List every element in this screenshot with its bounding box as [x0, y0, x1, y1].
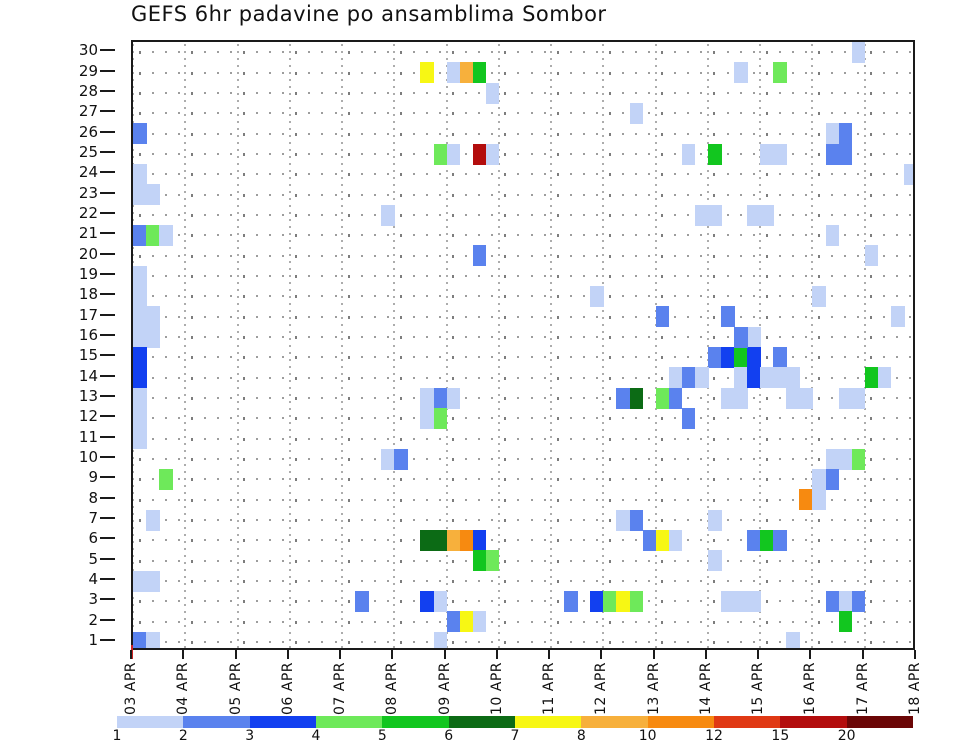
precip-cell	[473, 62, 487, 83]
y-axis-label: 21	[79, 224, 98, 242]
precip-cell	[146, 510, 160, 531]
precip-cell	[420, 62, 434, 83]
chart-title: GEFS 6hr padavine po ansamblima Sombor	[131, 2, 607, 26]
y-axis-label: 24	[79, 163, 98, 181]
precip-cell	[133, 123, 147, 144]
x-axis-label: 16 APR	[802, 662, 818, 715]
colorbar-segment	[382, 716, 448, 728]
colorbar-segment	[581, 716, 647, 728]
precip-cell	[616, 510, 630, 531]
y-axis-tick	[100, 253, 115, 255]
x-axis-tick	[496, 650, 498, 659]
y-axis-label: 23	[79, 184, 98, 202]
precip-cell	[133, 347, 147, 368]
colorbar-segment	[847, 716, 913, 728]
precip-cell	[721, 347, 735, 368]
y-axis-tick	[100, 273, 115, 275]
colorbar-segment	[515, 716, 581, 728]
y-axis-tick	[100, 436, 115, 438]
y-axis-tick	[100, 131, 115, 133]
y-axis-tick	[100, 456, 115, 458]
precip-cell	[786, 367, 800, 388]
y-axis-label: 8	[88, 489, 98, 507]
precip-cell	[434, 591, 448, 612]
y-axis-label: 6	[88, 529, 98, 547]
precip-cell	[159, 225, 173, 246]
precip-cell	[773, 347, 787, 368]
precip-cell	[656, 306, 670, 327]
precip-cell	[734, 62, 748, 83]
precip-cell	[420, 530, 434, 551]
precip-cell	[630, 388, 644, 409]
precip-cell	[695, 367, 709, 388]
precip-cell	[760, 205, 774, 226]
precip-cell	[839, 388, 853, 409]
precip-cell	[447, 144, 461, 165]
y-axis-label: 20	[79, 245, 98, 263]
x-axis-label: 03 APR	[123, 662, 139, 715]
x-axis-tick	[339, 650, 341, 659]
x-axis-tick	[391, 650, 393, 659]
precip-cell	[891, 306, 905, 327]
precip-cell	[590, 591, 604, 612]
precip-cell	[381, 205, 395, 226]
x-axis-label: 08 APR	[384, 662, 400, 715]
y-axis-tick	[100, 619, 115, 621]
y-axis-label: 3	[88, 590, 98, 608]
precip-cell	[656, 388, 670, 409]
y-axis-tick	[100, 354, 115, 356]
y-axis-tick	[100, 232, 115, 234]
precip-cell	[133, 571, 147, 592]
y-axis-tick	[100, 395, 115, 397]
colorbar	[117, 716, 913, 728]
precip-cell	[434, 408, 448, 429]
precip-cell	[773, 144, 787, 165]
precip-cell	[721, 306, 735, 327]
plot-area[interactable]	[131, 40, 915, 650]
y-axis-label: 28	[79, 82, 98, 100]
precip-cell	[786, 632, 800, 650]
precip-cell	[133, 388, 147, 409]
colorbar-segment	[117, 716, 183, 728]
y-axis-label: 12	[79, 407, 98, 425]
x-axis-label: 05 APR	[228, 662, 244, 715]
x-axis-label: 12 APR	[593, 662, 609, 715]
x-axis-label: 18 APR	[907, 662, 923, 715]
precip-cell	[394, 449, 408, 470]
precip-cell	[708, 550, 722, 571]
y-axis-tick	[100, 415, 115, 417]
precip-cell	[656, 530, 670, 551]
precip-cell	[434, 144, 448, 165]
y-axis-tick	[100, 375, 115, 377]
precip-cell	[708, 144, 722, 165]
precip-cell	[852, 591, 866, 612]
y-axis-tick	[100, 578, 115, 580]
y-axis-tick	[100, 314, 115, 316]
precip-cell	[734, 327, 748, 348]
precip-cell	[826, 225, 840, 246]
precip-cell	[146, 632, 160, 650]
precip-cell	[839, 123, 853, 144]
y-axis-tick	[100, 497, 115, 499]
precip-cell	[734, 347, 748, 368]
y-axis-tick	[100, 517, 115, 519]
y-axis-label: 16	[79, 326, 98, 344]
precip-cell	[682, 367, 696, 388]
y-axis-label: 29	[79, 62, 98, 80]
x-axis-tick	[444, 650, 446, 659]
x-axis-label: 13 APR	[646, 662, 662, 715]
precip-cell	[812, 286, 826, 307]
precip-cell	[616, 388, 630, 409]
precip-cell	[146, 184, 160, 205]
precip-cell	[420, 591, 434, 612]
y-axis-label: 4	[88, 570, 98, 588]
x-axis-tick	[235, 650, 237, 659]
precip-cell	[420, 388, 434, 409]
precip-cell	[590, 286, 604, 307]
y-axis-label: 7	[88, 509, 98, 527]
y-axis-tick	[100, 171, 115, 173]
x-axis-tick	[130, 650, 132, 659]
precip-cell	[786, 388, 800, 409]
y-axis-label: 11	[79, 428, 98, 446]
y-axis-label: 9	[88, 468, 98, 486]
precip-cell	[734, 367, 748, 388]
y-axis-label: 13	[79, 387, 98, 405]
precip-cell	[473, 530, 487, 551]
precip-cell	[839, 449, 853, 470]
precip-cell	[747, 591, 761, 612]
precip-cell	[682, 408, 696, 429]
precip-cell	[133, 266, 147, 287]
precip-cell	[434, 388, 448, 409]
precip-cell	[760, 530, 774, 551]
precip-cell	[708, 205, 722, 226]
x-axis-tick	[757, 650, 759, 659]
precip-cell	[760, 144, 774, 165]
precip-cell	[826, 144, 840, 165]
colorbar-segment	[316, 716, 382, 728]
y-axis-label: 1	[88, 631, 98, 649]
x-axis-tick	[548, 650, 550, 659]
precip-cell	[643, 530, 657, 551]
precip-cell	[826, 449, 840, 470]
x-axis-label: 06 APR	[280, 662, 296, 715]
y-axis-tick	[100, 598, 115, 600]
y-axis-label: 25	[79, 143, 98, 161]
precip-cell	[747, 367, 761, 388]
precip-cell	[734, 591, 748, 612]
x-axis-tick	[182, 650, 184, 659]
precip-cell	[669, 388, 683, 409]
x-axis-label: 14 APR	[698, 662, 714, 715]
x-axis-label: 15 APR	[750, 662, 766, 715]
y-axis-tick	[100, 192, 115, 194]
x-axis-tick	[705, 650, 707, 659]
precip-cell	[460, 530, 474, 551]
precip-cell	[420, 408, 434, 429]
precip-cell	[852, 388, 866, 409]
precip-cell	[434, 632, 448, 650]
precip-cell	[826, 469, 840, 490]
x-axis-tick	[914, 650, 916, 659]
precip-cell	[708, 347, 722, 368]
precip-cell	[826, 123, 840, 144]
x-axis-tick	[287, 650, 289, 659]
precip-cell	[355, 591, 369, 612]
precip-cell	[564, 591, 578, 612]
x-axis-label: 11 APR	[541, 662, 557, 715]
precip-cell	[630, 510, 644, 531]
colorbar-segment	[183, 716, 249, 728]
precip-cell	[133, 327, 147, 348]
y-axis-tick	[100, 639, 115, 641]
y-axis-label: 15	[79, 346, 98, 364]
precip-cell	[146, 571, 160, 592]
precip-cell	[630, 591, 644, 612]
precip-cell	[865, 245, 879, 266]
precip-cell	[904, 164, 915, 185]
precip-cell	[630, 103, 644, 124]
colorbar-segment	[648, 716, 714, 728]
y-axis-tick	[100, 151, 115, 153]
y-axis-tick	[100, 476, 115, 478]
precip-cell	[133, 632, 147, 650]
y-axis-tick	[100, 334, 115, 336]
precip-cell	[721, 388, 735, 409]
y-axis-label: 17	[79, 306, 98, 324]
x-axis-label: 09 APR	[437, 662, 453, 715]
precip-cell	[799, 388, 813, 409]
precip-cell	[486, 550, 500, 571]
y-axis-tick	[100, 212, 115, 214]
precip-cell	[773, 62, 787, 83]
precipitation-cells-layer	[133, 42, 913, 648]
precip-cell	[747, 327, 761, 348]
precip-cell	[695, 205, 709, 226]
y-axis-label: 27	[79, 102, 98, 120]
colorbar-segment	[714, 716, 780, 728]
precip-cell	[133, 184, 147, 205]
precip-cell	[381, 449, 395, 470]
precip-cell	[473, 245, 487, 266]
precip-cell	[760, 367, 774, 388]
precip-cell	[826, 591, 840, 612]
precip-cell	[865, 367, 879, 388]
precip-cell	[434, 530, 448, 551]
x-axis-tick	[862, 650, 864, 659]
y-axis-tick	[100, 49, 115, 51]
precip-cell	[133, 286, 147, 307]
y-axis-label: 10	[79, 448, 98, 466]
x-axis-tick	[600, 650, 602, 659]
y-axis-tick	[100, 70, 115, 72]
y-axis-tick	[100, 90, 115, 92]
precip-cell	[146, 327, 160, 348]
y-axis-label: 2	[88, 611, 98, 629]
precip-cell	[616, 591, 630, 612]
precip-cell	[878, 367, 892, 388]
precip-cell	[447, 388, 461, 409]
y-axis-label: 30	[79, 41, 98, 59]
precip-cell	[852, 449, 866, 470]
precip-cell	[146, 306, 160, 327]
precip-cell	[747, 530, 761, 551]
colorbar-segment	[250, 716, 316, 728]
precip-cell	[133, 428, 147, 449]
x-axis-label: 10 APR	[489, 662, 505, 715]
y-axis-tick	[100, 110, 115, 112]
precip-cell	[133, 408, 147, 429]
y-axis-label: 14	[79, 367, 98, 385]
precip-cell	[473, 611, 487, 632]
precip-cell	[146, 225, 160, 246]
precip-cell	[839, 591, 853, 612]
x-axis-label: 04 APR	[175, 662, 191, 715]
y-axis-label: 19	[79, 265, 98, 283]
precip-cell	[812, 489, 826, 510]
y-axis-tick	[100, 558, 115, 560]
y-axis-tick	[100, 293, 115, 295]
precip-cell	[812, 469, 826, 490]
precip-cell	[159, 469, 173, 490]
precip-cell	[133, 225, 147, 246]
precip-cell	[747, 347, 761, 368]
precip-cell	[721, 591, 735, 612]
y-axis-label: 5	[88, 550, 98, 568]
x-axis-label: 17 APR	[855, 662, 871, 715]
precip-cell	[669, 367, 683, 388]
y-axis-label: 26	[79, 123, 98, 141]
precip-cell	[682, 144, 696, 165]
precip-cell	[447, 530, 461, 551]
precip-cell	[773, 367, 787, 388]
precip-cell	[669, 530, 683, 551]
precip-cell	[133, 306, 147, 327]
y-axis-label: 18	[79, 285, 98, 303]
y-axis-tick	[100, 537, 115, 539]
colorbar-segment	[780, 716, 846, 728]
precip-cell	[708, 510, 722, 531]
y-axis-label: 22	[79, 204, 98, 222]
precip-cell	[473, 550, 487, 571]
precip-cell	[447, 62, 461, 83]
precip-cell	[133, 367, 147, 388]
x-axis-tick	[809, 650, 811, 659]
precip-cell	[773, 530, 787, 551]
precip-cell	[486, 83, 500, 104]
x-axis-label: 07 APR	[332, 662, 348, 715]
precip-cell	[460, 611, 474, 632]
x-axis-tick	[653, 650, 655, 659]
precip-cell	[852, 42, 866, 63]
precip-cell	[839, 611, 853, 632]
precip-cell	[799, 489, 813, 510]
precip-cell	[603, 591, 617, 612]
precip-cell	[734, 388, 748, 409]
precip-cell	[747, 205, 761, 226]
chart-root: GEFS 6hr padavine po ansamblima Sombor 3…	[0, 0, 960, 742]
precip-cell	[133, 164, 147, 185]
precip-cell	[839, 144, 853, 165]
precip-cell	[460, 62, 474, 83]
precip-cell	[473, 144, 487, 165]
precip-cell	[447, 611, 461, 632]
precip-cell	[486, 144, 500, 165]
colorbar-segment	[449, 716, 515, 728]
y-axis: 3029282726252423222120191817161514131211…	[0, 0, 131, 742]
